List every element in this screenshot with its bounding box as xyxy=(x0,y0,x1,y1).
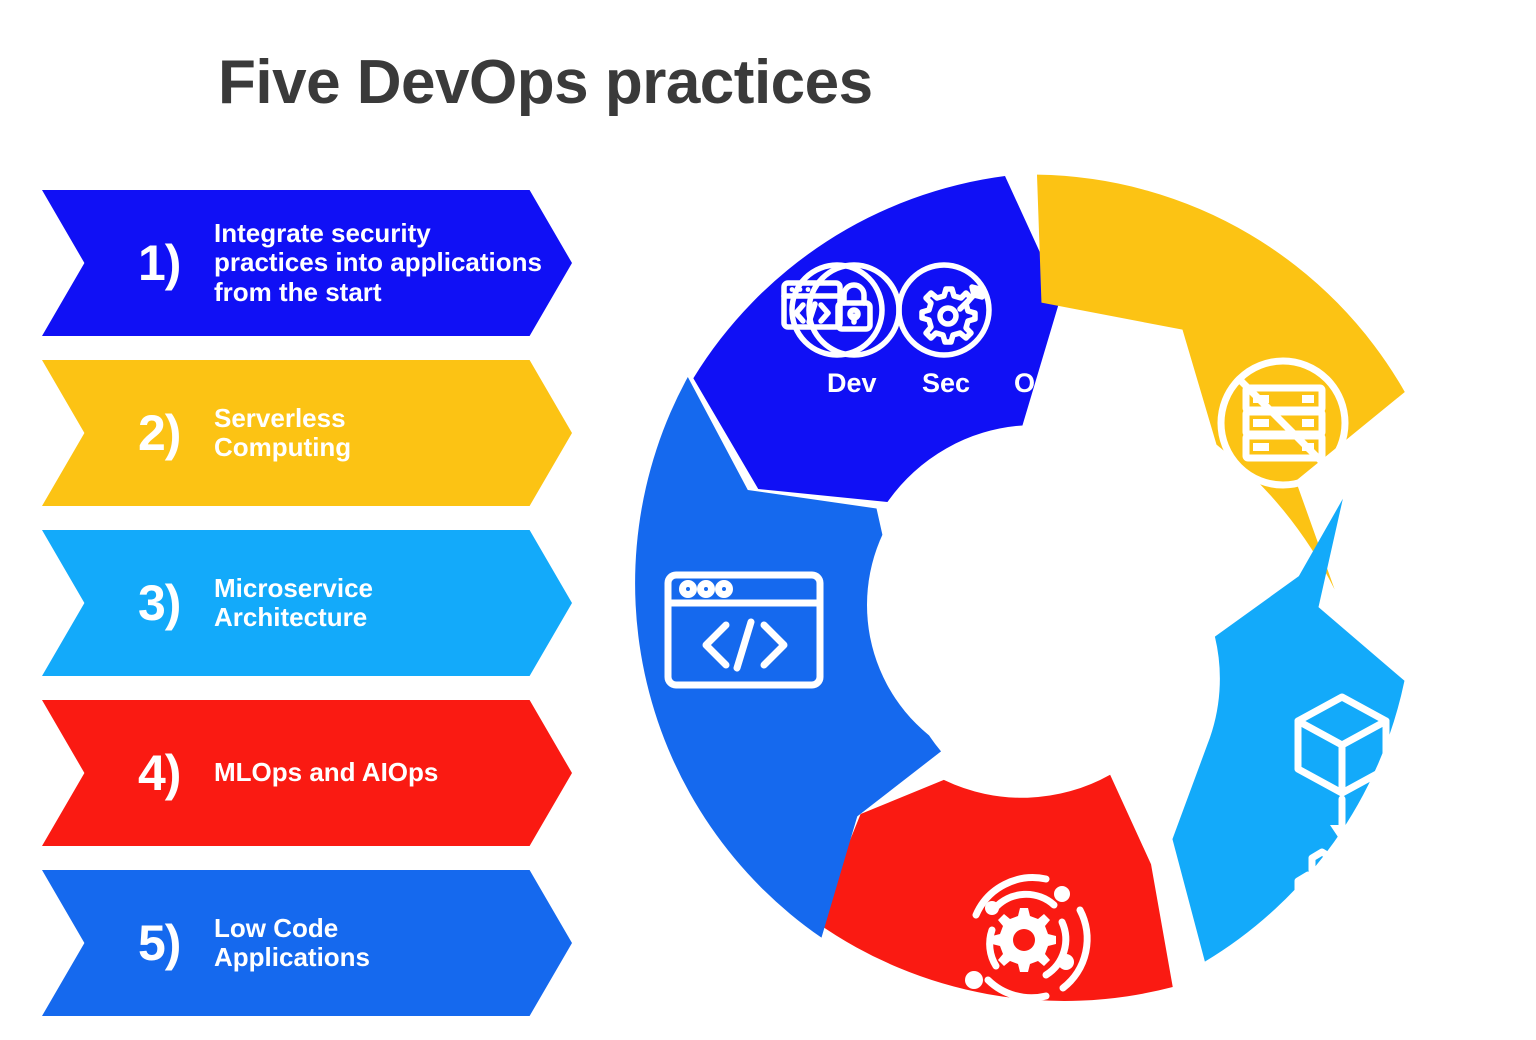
page-title: Five DevOps practices xyxy=(218,52,873,114)
banner-label: Integrate security practices into applic… xyxy=(214,219,568,306)
sec-label: Sec xyxy=(922,368,970,398)
banner-number: 2) xyxy=(138,408,214,458)
banner-mlops-and-aiops[interactable]: 4) MLOps and AIOps xyxy=(42,700,572,846)
dev-label: Dev xyxy=(827,368,877,398)
wheel-center-hole xyxy=(867,437,1203,773)
banner-number: 5) xyxy=(138,918,214,968)
banner-number: 1) xyxy=(138,238,214,288)
banner-microservice-architecture[interactable]: 3) Microservice Architecture xyxy=(42,530,572,676)
banner-label: MLOps and AIOps xyxy=(214,758,464,787)
banner-integrate-security[interactable]: 1) Integrate security practices into app… xyxy=(42,190,572,336)
ops-label: Ops xyxy=(1014,368,1067,398)
devops-practices-wheel: Dev Sec Ops xyxy=(600,170,1470,1040)
practice-banner-list: 1) Integrate security practices into app… xyxy=(42,190,572,1040)
banner-serverless-computing[interactable]: 2) Serverless Computing xyxy=(42,360,572,506)
banner-label: Serverless Computing xyxy=(214,404,377,462)
banner-label: Low Code Applications xyxy=(214,914,396,972)
banner-number: 4) xyxy=(138,748,214,798)
banner-low-code-applications[interactable]: 5) Low Code Applications xyxy=(42,870,572,1016)
banner-label: Microservice Architecture xyxy=(214,574,399,632)
banner-number: 3) xyxy=(138,578,214,628)
